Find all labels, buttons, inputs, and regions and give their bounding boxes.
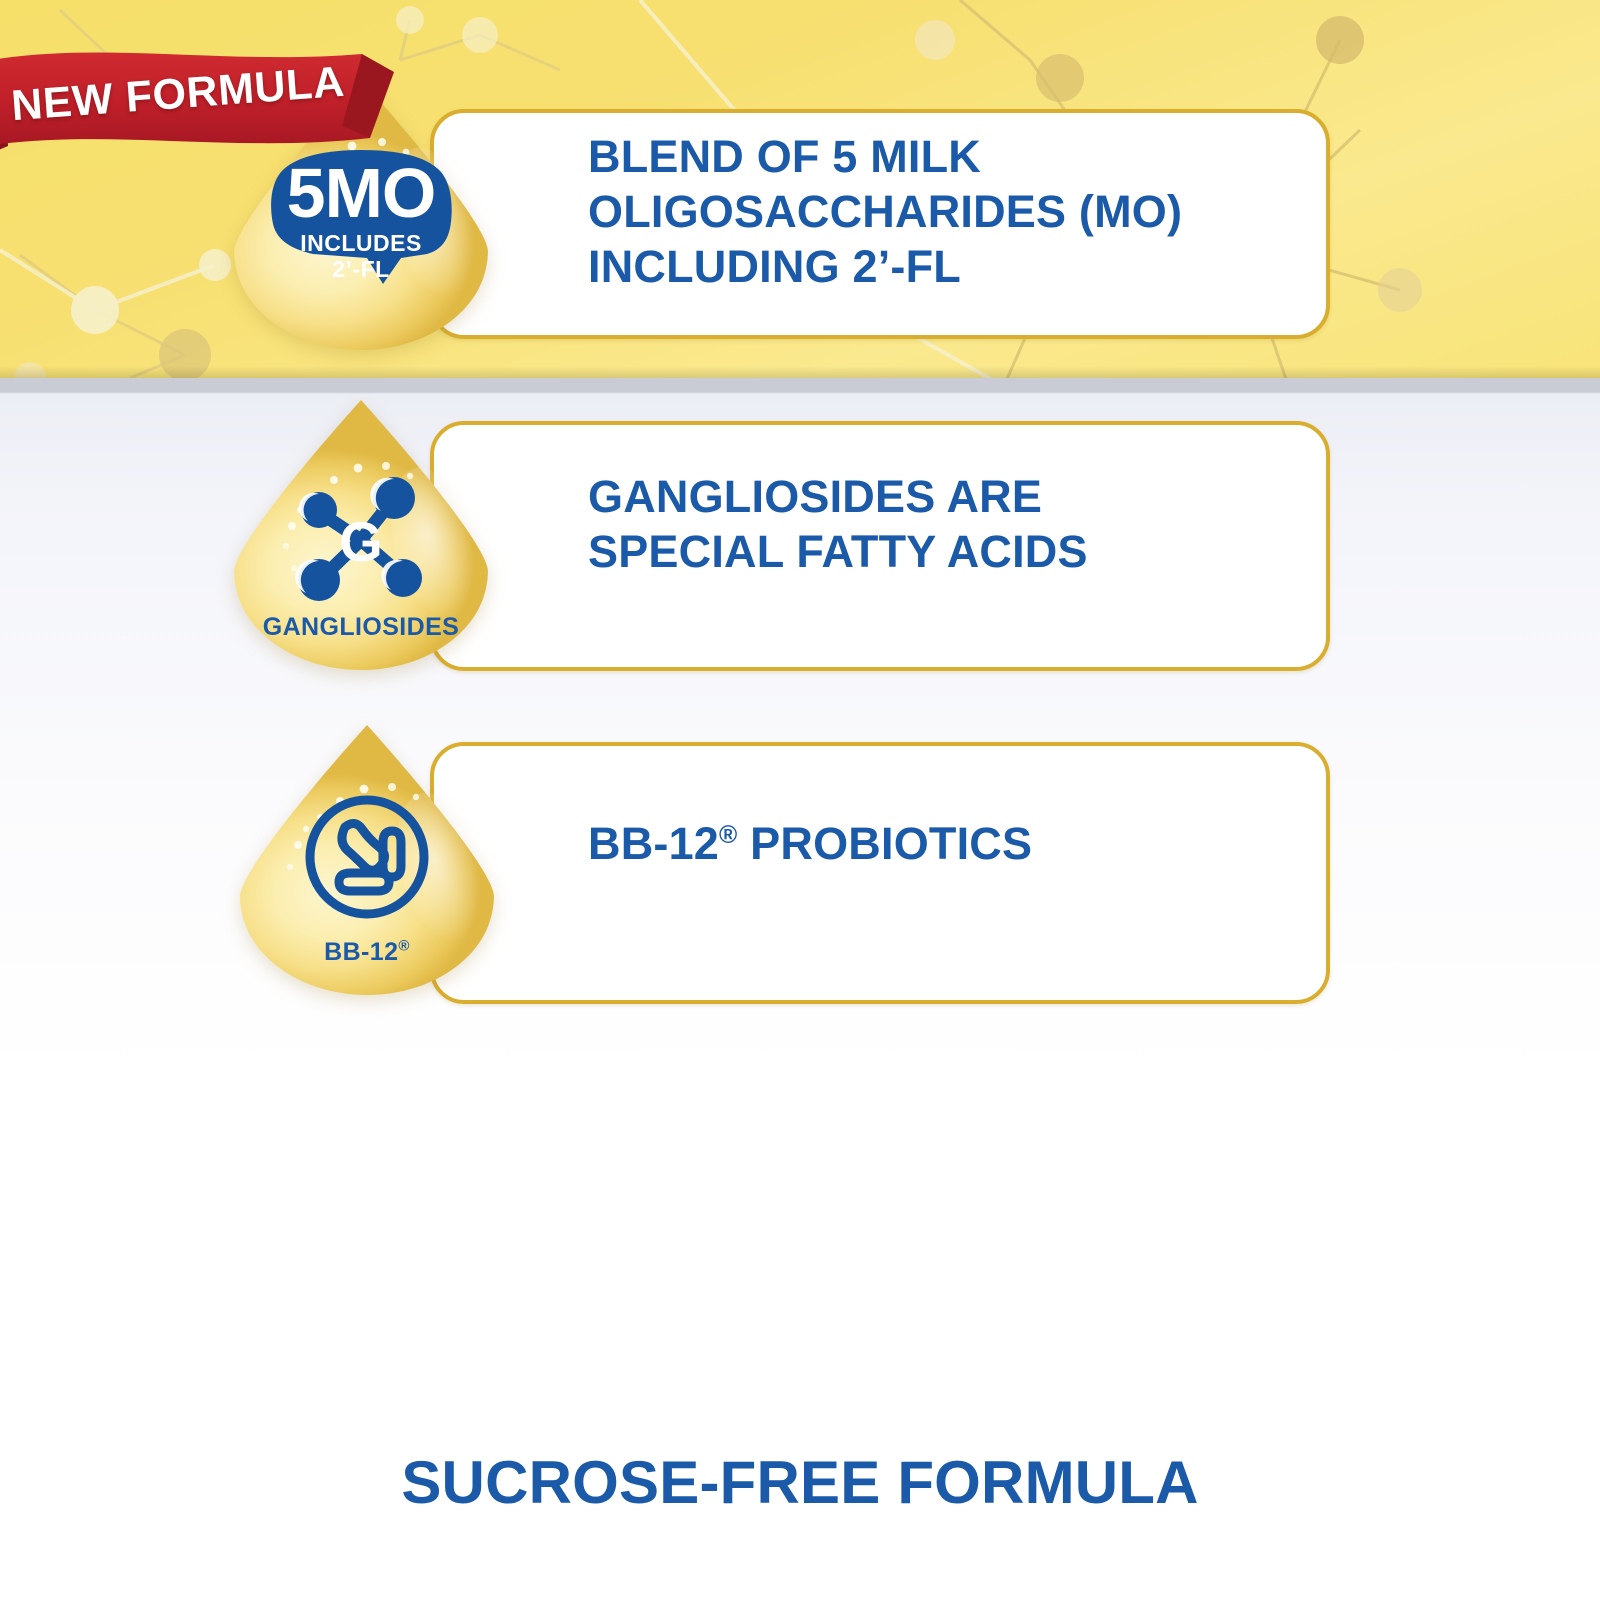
bb12-text-rest: PROBIOTICS [737,818,1032,869]
new-formula-ribbon: NEW FORMULA [0,42,410,160]
feature-card-five-mo-text: BLEND OF 5 MILK OLIGOSACCHARIDES (MO) IN… [588,130,1308,295]
bb12-label-text: BB-12 [324,938,398,966]
feature-card-gangliosides-text: GANGLIOSIDES ARE SPECIAL FATTY ACIDS [588,470,1308,580]
feature-card-bb12-text: BB-12® PROBIOTICS [588,817,1308,872]
footer-sucrose-free-text: SUCROSE-FREE FORMULA [0,1448,1600,1517]
five-mo-line2-label: 2’-FL [257,258,465,281]
bb12-text-registered-mark: ® [719,822,737,849]
svg-text:G: G [339,510,383,573]
five-mo-line1-label: INCLUDES [257,232,465,255]
molecule-g-icon: G [286,470,436,610]
probiotic-bacteria-icon [297,787,437,927]
feature-card-bb12[interactable] [430,742,1330,1004]
bb12-label: BB-12® [240,938,494,967]
droplet-bb12[interactable]: BB-12® [240,725,494,995]
gangliosides-label: GANGLIOSIDES [234,613,488,642]
droplet-gangliosides[interactable]: G GANGLIOSIDES [234,400,488,670]
bb12-text-main: BB-12 [588,818,719,869]
bb12-registered-mark: ® [398,938,409,955]
